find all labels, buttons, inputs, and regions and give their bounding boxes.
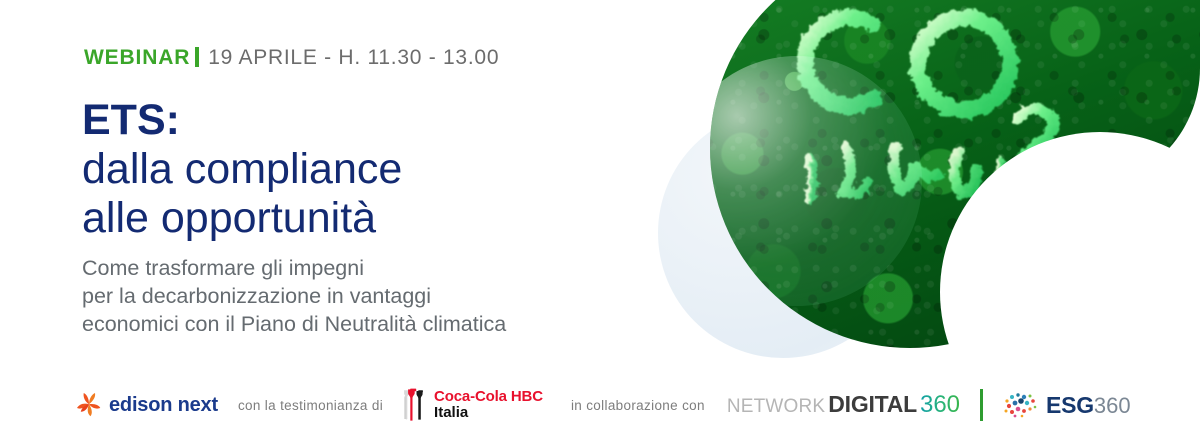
coke-bottles-icon: [401, 388, 427, 422]
eyebrow-date-time: 19 APRILE - H. 11.30 - 13.00: [208, 46, 499, 69]
title-line-2: dalla compliance: [82, 145, 402, 194]
eyebrow-keyword: WEBINAR: [84, 46, 190, 69]
coca-cola-hbc-italia-logo[interactable]: Coca-Cola HBC Italia: [401, 388, 543, 422]
esg-dot-cluster-icon: [1003, 392, 1039, 418]
edison-pinwheel-icon: [74, 390, 104, 420]
subtitle-line-3: economici con il Piano di Neutralità cli…: [82, 310, 506, 338]
footer-logo-strip: edison next con la testimonianza di Coca…: [0, 382, 1200, 428]
subtitle-line-1: Come trasformare gli impegni: [82, 254, 506, 282]
esg-360-wordmark: ESG 360: [1046, 392, 1131, 419]
hero-artwork: [680, 0, 1200, 400]
title-line-1: ETS:: [82, 96, 402, 145]
eyebrow-separator-bar: [195, 47, 199, 67]
network-digital-360-number: 360: [920, 391, 960, 419]
caption-testimony: con la testimonianza di: [238, 398, 383, 413]
edison-next-logo[interactable]: edison next: [74, 390, 218, 420]
coca-cola-hbc-line-1: Coca-Cola HBC: [434, 389, 543, 405]
esg-360-number: 360: [1094, 393, 1131, 419]
title-line-3: alle opportunità: [82, 194, 402, 243]
page-subtitle: Come trasformare gli impegni per la deca…: [82, 254, 506, 338]
webinar-banner: WEBINAR19 APRILE - H. 11.30 - 13.00 ETS:…: [0, 0, 1200, 440]
eyebrow-line: WEBINAR19 APRILE - H. 11.30 - 13.00: [84, 46, 499, 70]
caption-collaboration: in collaborazione con: [571, 398, 705, 413]
page-title: ETS: dalla compliance alle opportunità: [82, 96, 402, 243]
subtitle-line-2: per la decarbonizzazione in vantaggi: [82, 282, 506, 310]
network-digital-360-network: NETWORK: [727, 396, 825, 418]
esg-360-logo[interactable]: ESG 360: [1003, 392, 1131, 419]
coca-cola-hbc-line-2: Italia: [434, 405, 543, 421]
esg-360-letters: ESG: [1046, 392, 1094, 419]
edison-next-wordmark: edison next: [109, 394, 218, 417]
network-digital-360-digital: DIGITAL: [828, 391, 917, 418]
coca-cola-hbc-wordmark: Coca-Cola HBC Italia: [434, 389, 543, 421]
footer-vertical-divider: [980, 389, 983, 421]
network-digital-360-logo[interactable]: NETWORK DIGITAL 360: [727, 391, 960, 419]
